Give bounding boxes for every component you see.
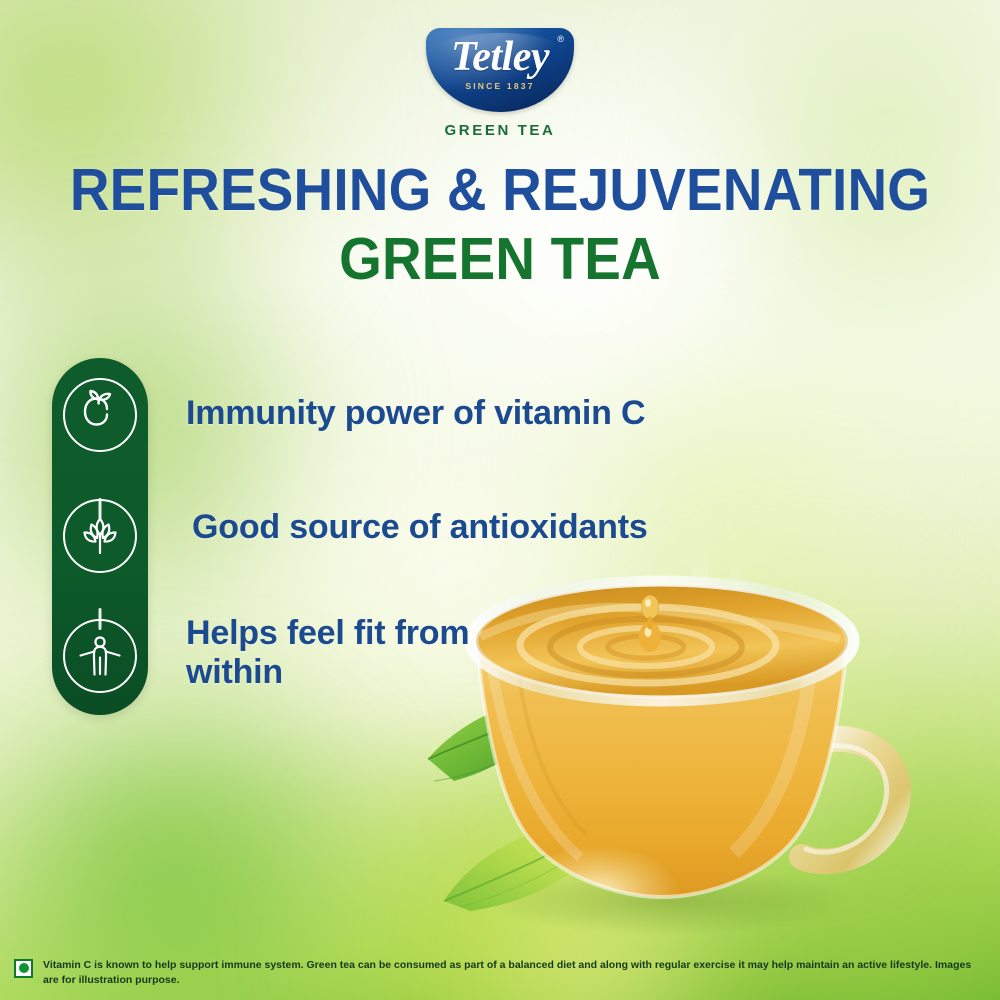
benefit-text-3: Helps feel fit from within bbox=[186, 614, 516, 693]
logo-wordmark: Tetley bbox=[451, 36, 549, 78]
advertisement-canvas: Tetley ® SINCE 1837 GREEN TEA REFRESHING… bbox=[0, 0, 1000, 1000]
tea-cup-image bbox=[420, 545, 1000, 955]
vegetarian-mark-icon bbox=[14, 959, 33, 978]
fit-person-icon bbox=[63, 619, 137, 693]
leaf-rosette-icon bbox=[63, 499, 137, 573]
brand-logo: Tetley ® SINCE 1837 GREEN TEA bbox=[0, 28, 1000, 139]
footer-disclaimer-row: Vitamin C is known to help support immun… bbox=[14, 958, 986, 988]
headline-line-1: REFRESHING & REJUVENATING bbox=[35, 160, 965, 220]
registered-trademark-icon: ® bbox=[557, 34, 564, 44]
disclaimer-text: Vitamin C is known to help support immun… bbox=[43, 958, 986, 988]
benefit-icon-pill bbox=[52, 358, 148, 715]
logo-bowl-shape: Tetley ® SINCE 1837 bbox=[426, 28, 574, 112]
benefit-text-1: Immunity power of vitamin C bbox=[186, 394, 645, 433]
logo-subtitle: GREEN TEA bbox=[445, 122, 556, 139]
headline-line-2: GREEN TEA bbox=[35, 229, 965, 289]
headline: REFRESHING & REJUVENATING GREEN TEA bbox=[0, 160, 1000, 289]
logo-since-text: SINCE 1837 bbox=[465, 81, 534, 91]
vegetarian-dot bbox=[19, 963, 29, 973]
vitamin-c-fruit-icon bbox=[63, 378, 137, 452]
benefit-text-2: Good source of antioxidants bbox=[192, 508, 648, 547]
